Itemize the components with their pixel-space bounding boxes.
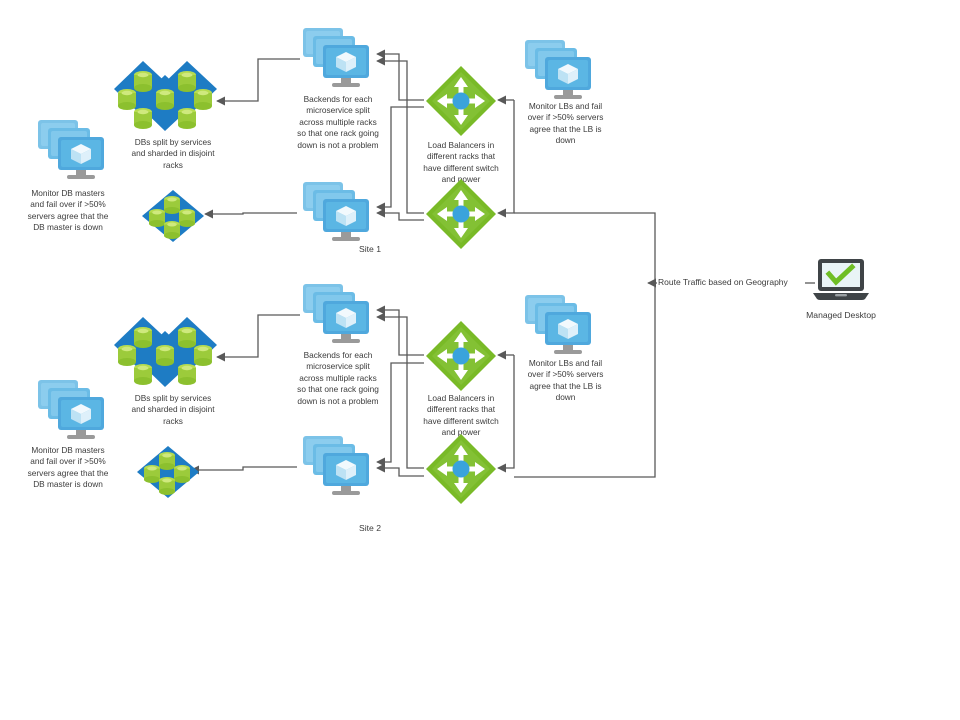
db-cylinder: [178, 327, 196, 348]
caption-db-cluster-large-site1: DBs split by services and sharded in dis…: [122, 137, 224, 171]
server-stack-db-monitor-site1[interactable]: [36, 118, 112, 182]
db-cylinder: [159, 452, 175, 470]
db-cylinder: [149, 209, 165, 227]
server-stack-icon: [301, 26, 377, 90]
db-cylinder: [134, 108, 152, 129]
server-stack-db-monitor-site2[interactable]: [36, 378, 112, 442]
caption-db-monitor-site1: Monitor DB masters and fail over if >50%…: [7, 188, 129, 234]
server-stack-icon: [301, 434, 377, 498]
db-cylinder: [134, 327, 152, 348]
edge-backends-bottom-to-db-small-site1: [205, 213, 297, 214]
server-stack-lb-monitor-site2[interactable]: [523, 293, 599, 357]
edge-label-route-traffic-geography: Route Traffic based on Geography: [657, 277, 789, 287]
db-cylinder: [118, 345, 136, 366]
db-cylinder: [164, 196, 180, 214]
caption-backends-top-site1: Backends for each microservice split acr…: [287, 94, 389, 151]
db-cylinder: [118, 89, 136, 110]
db-cylinder: [134, 71, 152, 92]
database-cluster-large-site1[interactable]: [113, 57, 219, 147]
db-cylinder: [156, 345, 174, 366]
database-cluster-small-site2[interactable]: [135, 444, 201, 500]
db-cylinder: [179, 209, 195, 227]
server-stack-lb-monitor-site1[interactable]: [523, 38, 599, 102]
load-balancer-bottom-site2[interactable]: [424, 432, 498, 506]
load-balancer-bottom-site1[interactable]: [424, 177, 498, 251]
caption-lb-monitor-site1: Monitor LBs and fail over if >50% server…: [513, 101, 618, 147]
database-cluster-large-site2[interactable]: [113, 313, 219, 403]
db-cylinder: [159, 477, 175, 495]
load-balancer-icon: [424, 64, 498, 138]
server-stack-icon: [36, 118, 112, 182]
load-balancer-icon: [424, 432, 498, 506]
database-cluster-icon: [113, 313, 219, 403]
db-cylinder: [178, 108, 196, 129]
server-stack-icon: [301, 282, 377, 346]
managed-desktop-label: Managed Desktop: [795, 310, 887, 320]
server-stack-backends-bottom-site2[interactable]: [301, 434, 377, 498]
server-stack-icon: [36, 378, 112, 442]
edge-lb-bottom-to-backends-bottom-site2: [377, 468, 424, 476]
load-balancer-top-site2[interactable]: [424, 319, 498, 393]
caption-db-monitor-site2: Monitor DB masters and fail over if >50%…: [7, 445, 129, 491]
server-stack-icon: [301, 180, 377, 244]
db-cylinder: [164, 221, 180, 239]
db-cylinder: [194, 345, 212, 366]
laptop-check-icon: [812, 258, 870, 304]
db-cylinder: [174, 465, 190, 483]
db-cylinder: [194, 89, 212, 110]
caption-db-cluster-large-site2: DBs split by services and sharded in dis…: [122, 393, 224, 427]
db-cylinder: [178, 364, 196, 385]
load-balancer-icon: [424, 177, 498, 251]
managed-desktop-node[interactable]: [812, 258, 870, 304]
site-label-site2: Site 2: [330, 523, 410, 533]
db-cylinder: [134, 364, 152, 385]
load-balancer-top-site1[interactable]: [424, 64, 498, 138]
db-cylinder: [144, 465, 160, 483]
server-stack-backends-top-site2[interactable]: [301, 282, 377, 346]
db-cylinder: [156, 89, 174, 110]
database-cluster-small-icon: [140, 188, 206, 244]
db-cylinder: [178, 71, 196, 92]
server-stack-backends-bottom-site1[interactable]: [301, 180, 377, 244]
diagram-canvas: Monitor DB masters and fail over if >50%…: [0, 0, 960, 720]
site-label-site1: Site 1: [330, 244, 410, 254]
caption-backends-top-site2: Backends for each microservice split acr…: [287, 350, 389, 407]
server-stack-icon: [523, 293, 599, 357]
edge-site1-to-geo-router: [514, 213, 655, 283]
database-cluster-small-site1[interactable]: [140, 188, 206, 244]
edge-backends-bottom-to-db-small-site2: [191, 467, 297, 470]
database-cluster-small-icon: [135, 444, 201, 500]
server-stack-backends-top-site1[interactable]: [301, 26, 377, 90]
server-stack-icon: [523, 38, 599, 102]
database-cluster-icon: [113, 57, 219, 147]
load-balancer-icon: [424, 319, 498, 393]
edge-lb-bottom-to-backends-bottom-site1: [377, 213, 424, 220]
caption-lb-monitor-site2: Monitor LBs and fail over if >50% server…: [513, 358, 618, 404]
